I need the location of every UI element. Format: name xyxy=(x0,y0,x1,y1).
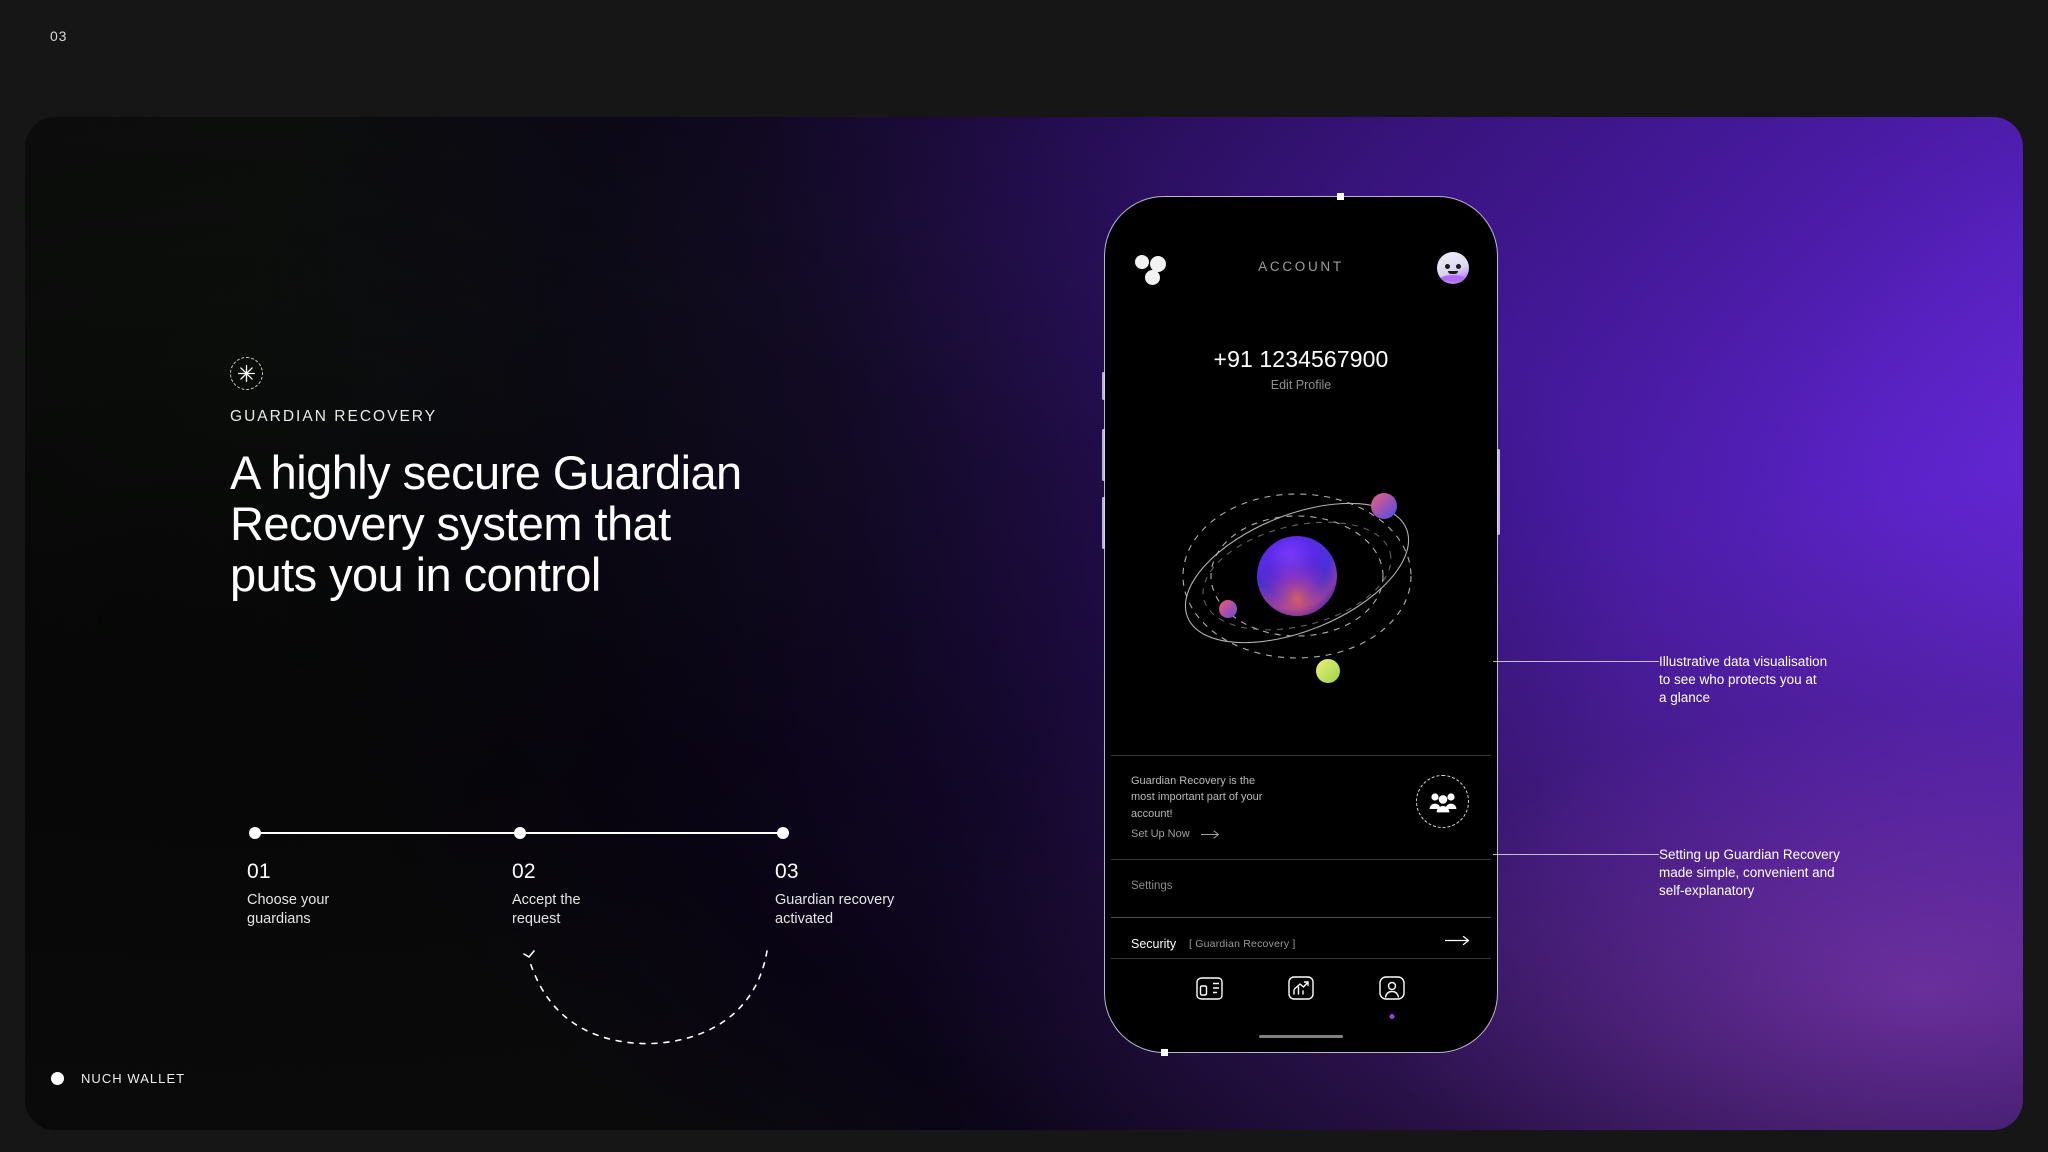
annotation-1: Illustrative data visualisation to see w… xyxy=(1659,653,1899,707)
annotation-leader-line-1 xyxy=(1493,661,1659,662)
phone-top-pin xyxy=(1337,193,1344,200)
nav-account[interactable] xyxy=(1375,973,1409,1007)
step-number: 01 xyxy=(247,860,417,884)
guardian-orbit-node-3 xyxy=(1316,659,1340,683)
slide-page: 03 GUARDIAN RECOVERY A highly secure Gua… xyxy=(0,0,2048,1152)
page-number: 03 xyxy=(50,28,67,44)
step-description: Choose your guardians xyxy=(247,891,417,928)
annotation-text: Illustrative data visualisation to see w… xyxy=(1659,653,1899,707)
security-label: Security xyxy=(1131,937,1176,951)
footer-brand: NUCH WALLET xyxy=(51,1071,185,1086)
timeline-step-1: 01 Choose your guardians xyxy=(247,860,417,928)
nav-active-indicator xyxy=(1389,1014,1394,1019)
brand-bullet-icon xyxy=(51,1072,64,1085)
app-header-title: ACCOUNT xyxy=(1111,259,1491,274)
step-number: 02 xyxy=(512,860,682,884)
home-indicator xyxy=(1259,1035,1343,1038)
left-content: GUARDIAN RECOVERY A highly secure Guardi… xyxy=(230,357,1010,600)
phone-volume-down-button[interactable] xyxy=(1102,497,1105,549)
page-title: A highly secure Guardian Recovery system… xyxy=(230,448,1010,600)
step-number: 03 xyxy=(775,860,945,884)
phone-bottom-pin xyxy=(1161,1049,1168,1056)
set-up-now-label: Set Up Now xyxy=(1131,828,1190,840)
guardian-orbit-visualisation xyxy=(1111,413,1491,733)
eyebrow-label: GUARDIAN RECOVERY xyxy=(230,408,1010,426)
annotation-text: Setting up Guardian Recovery made simple… xyxy=(1659,846,1899,900)
timeline-step-2: 02 Accept the request xyxy=(512,860,682,928)
bottom-navigation xyxy=(1111,958,1491,1020)
person-icon xyxy=(1375,973,1409,1003)
phone-volume-up-button[interactable] xyxy=(1102,429,1105,481)
guardian-orbit-node-1 xyxy=(1371,493,1397,519)
arrow-right-icon xyxy=(1201,830,1221,839)
guardians-group-icon xyxy=(1416,775,1469,828)
wallet-icon xyxy=(1193,973,1227,1003)
phone-power-button[interactable] xyxy=(1497,449,1500,535)
timeline-dot-1[interactable] xyxy=(249,827,261,839)
phone-mute-button[interactable] xyxy=(1102,372,1105,400)
set-up-now-button[interactable]: Set Up Now xyxy=(1131,828,1221,840)
phone-screen: ACCOUNT +91 1234567900 Edit Profile xyxy=(1111,203,1491,1046)
settings-label: Settings xyxy=(1131,880,1173,892)
avatar[interactable] xyxy=(1437,252,1469,284)
timeline-step-3: 03 Guardian recovery activated xyxy=(775,860,945,928)
guardian-card-copy: Guardian Recovery is the most important … xyxy=(1131,773,1321,822)
step-description: Guardian recovery activated xyxy=(775,891,945,928)
app-header: ACCOUNT xyxy=(1111,251,1491,291)
phone-mockup: ACCOUNT +91 1234567900 Edit Profile xyxy=(1104,196,1498,1053)
annotation-2: Setting up Guardian Recovery made simple… xyxy=(1659,846,1899,900)
guardian-orbit-node-2 xyxy=(1219,600,1237,618)
profile-phone-number: +91 1234567900 xyxy=(1111,346,1491,373)
curved-dashed-arrow-icon xyxy=(515,945,775,1055)
chart-up-icon xyxy=(1284,973,1318,1003)
asterisk-icon xyxy=(230,357,263,390)
background-grain-texture xyxy=(25,117,2023,1130)
annotation-leader-line-2 xyxy=(1493,854,1659,855)
brand-name: NUCH WALLET xyxy=(81,1071,185,1086)
timeline-dot-3[interactable] xyxy=(777,827,789,839)
guardian-recovery-card[interactable]: Guardian Recovery is the most important … xyxy=(1111,755,1491,860)
security-value: [ Guardian Recovery ] xyxy=(1189,938,1296,950)
step-description: Accept the request xyxy=(512,891,682,928)
timeline-dot-2[interactable] xyxy=(514,827,526,839)
arrow-right-icon[interactable] xyxy=(1445,935,1471,946)
nav-analytics[interactable] xyxy=(1284,973,1318,1007)
settings-row[interactable]: Settings xyxy=(1111,860,1491,918)
edit-profile-link[interactable]: Edit Profile xyxy=(1111,378,1491,392)
nav-wallet[interactable] xyxy=(1193,973,1227,1007)
slide-card: GUARDIAN RECOVERY A highly secure Guardi… xyxy=(25,117,2023,1130)
